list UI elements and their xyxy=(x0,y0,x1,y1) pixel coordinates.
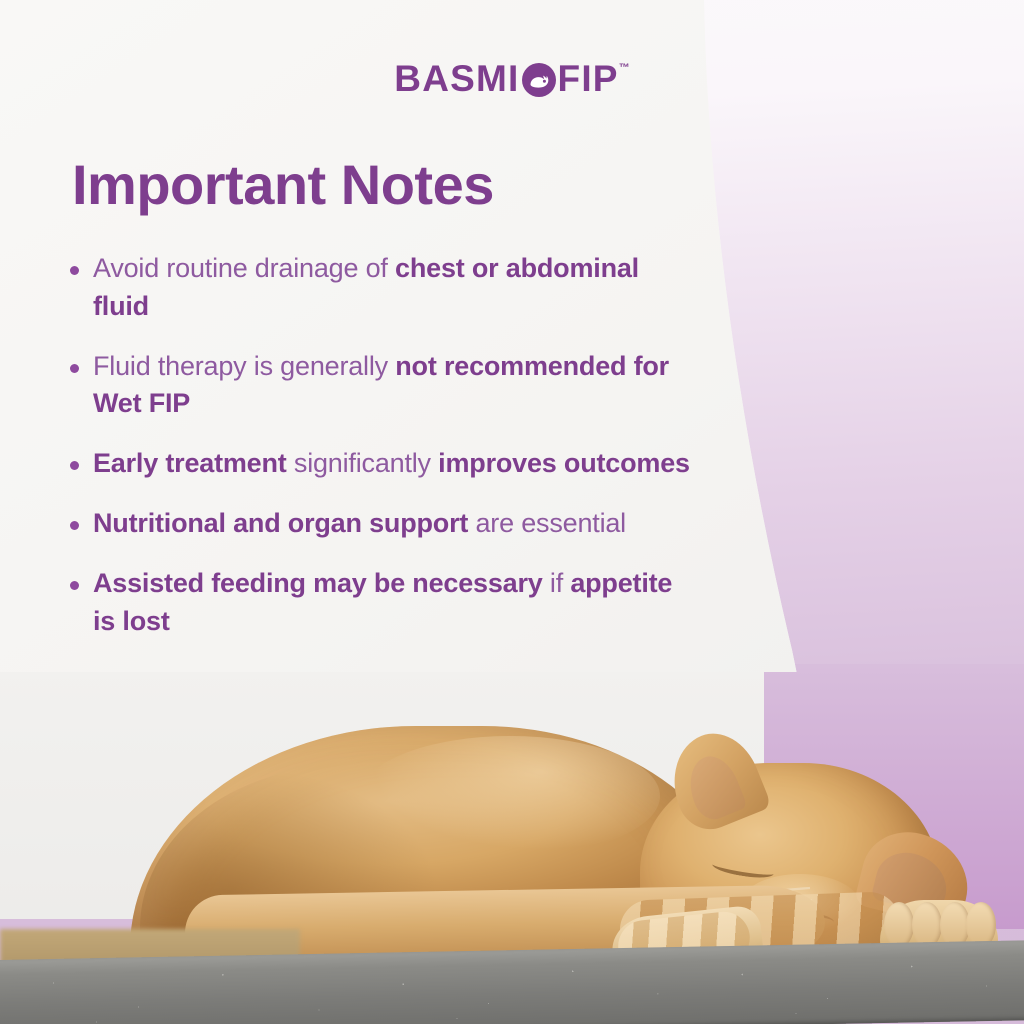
curled-cat-icon xyxy=(522,63,556,97)
bullet-dot-icon xyxy=(70,581,79,590)
brand-name-left: BASMI xyxy=(394,58,519,100)
list-item: Avoid routine drainage of chest or abdom… xyxy=(70,250,700,326)
list-item: Assisted feeding may be necessary if app… xyxy=(70,565,700,641)
bullet-dot-icon xyxy=(70,266,79,275)
list-item-text: Nutritional and organ support are essent… xyxy=(93,505,626,543)
bullet-dot-icon xyxy=(70,521,79,530)
page-title: Important Notes xyxy=(72,152,494,217)
list-item-text: Assisted feeding may be necessary if app… xyxy=(93,565,700,641)
list-item-text: Fluid therapy is generally not recommend… xyxy=(93,348,700,424)
list-item-text: Early treatment significantly improves o… xyxy=(93,445,690,483)
trademark-symbol: ™ xyxy=(619,62,630,74)
bullet-dot-icon xyxy=(70,364,79,373)
notes-list: Avoid routine drainage of chest or abdom… xyxy=(70,250,700,662)
brand-name-right: FIP xyxy=(558,58,619,100)
list-item: Fluid therapy is generally not recommend… xyxy=(70,348,700,424)
bullet-dot-icon xyxy=(70,461,79,470)
poster-canvas: BASMI FIP ™ Important Notes Avoid routin… xyxy=(0,0,1024,1024)
poster-content: BASMI FIP ™ Important Notes Avoid routin… xyxy=(0,0,1024,1024)
list-item: Early treatment significantly improves o… xyxy=(70,445,700,483)
list-item-text: Avoid routine drainage of chest or abdom… xyxy=(93,250,700,326)
list-item: Nutritional and organ support are essent… xyxy=(70,505,700,543)
brand-logo[interactable]: BASMI FIP ™ xyxy=(0,58,1024,100)
